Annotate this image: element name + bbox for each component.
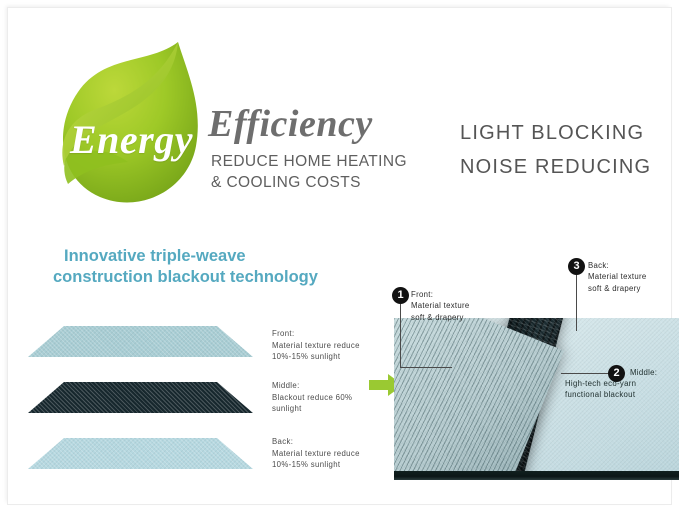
callout-text-3: Back: Material texture soft & drapery [588,260,647,294]
infographic-page: Energy Efficiency REDUCE HOME HEATING & … [0,0,679,512]
callout-desc-1: Material texture [588,272,647,281]
page-title: Efficiency [208,102,373,146]
layer-label-desc-2: 10%-15% sunlight [272,459,360,471]
callout-desc-2: soft & drapery [588,284,641,293]
callout-desc-1: Material texture [411,301,470,310]
layer-label-desc-1: Material texture reduce [272,448,360,460]
claims-list: LIGHT BLOCKING NOISE REDUCING [460,116,651,184]
layer-label-middle: Middle: Blackout reduce 60% sunlight [272,380,352,415]
layer-label-front: Front: Material texture reduce 10%-15% s… [272,328,360,363]
callout-2-leader-horizontal [561,373,609,374]
layer-swatch-front [28,326,253,362]
callout-desc-2: functional blackout [565,390,635,399]
layer-label-desc-1: Material texture reduce [272,340,360,352]
claim-noise-reducing: NOISE REDUCING [460,150,651,184]
page-frame: Energy Efficiency REDUCE HOME HEATING & … [8,8,671,504]
callout-title: Back: [588,261,609,270]
callout-3-leader-vertical [576,275,577,331]
callout-1-leader-horizontal [400,367,452,368]
layer-diagram [28,320,268,478]
callout-text-2-body: High-tech eco-yarn functional blackout [565,378,636,401]
section-heading-line-1: Innovative triple-weave [64,247,246,265]
claim-light-blocking: LIGHT BLOCKING [460,116,651,150]
layer-swatch-back [28,438,253,474]
layer-label-desc-2: sunlight [272,403,352,415]
page-subtitle: REDUCE HOME HEATING & COOLING COSTS [211,151,407,193]
photo-bottom-band [394,471,679,480]
layer-texture [28,382,253,418]
layer-swatch-middle [28,382,253,418]
layer-label-title: Front: [272,328,360,340]
section-heading-line-2: construction blackout technology [53,267,364,288]
layer-texture [28,326,253,362]
subtitle-line-2: & COOLING COSTS [211,174,361,191]
layer-label-desc-1: Blackout reduce 60% [272,392,352,404]
section-heading: Innovative triple-weave construction bla… [64,246,364,288]
layer-label-back: Back: Material texture reduce 10%-15% su… [272,436,360,471]
callout-title: Front: [411,290,433,299]
callout-text-1: Front: Material texture soft & drapery [411,289,470,323]
logo-wordmark: Energy [64,116,199,163]
callout-1-leader-vertical [400,304,401,368]
layer-label-desc-2: 10%-15% sunlight [272,351,360,363]
layer-texture [28,438,253,474]
callout-badge-1: 1 [392,287,409,304]
energy-leaf-logo: Energy [54,34,204,206]
callout-badge-3: 3 [568,258,585,275]
callout-desc-1: High-tech eco-yarn [565,379,636,388]
subtitle-line-1: REDUCE HOME HEATING [211,153,407,170]
callout-desc-2: soft & drapery [411,313,464,322]
layer-label-title: Middle: [272,380,352,392]
layer-label-title: Back: [272,436,360,448]
callout-text-2-title: Middle: [630,367,657,378]
